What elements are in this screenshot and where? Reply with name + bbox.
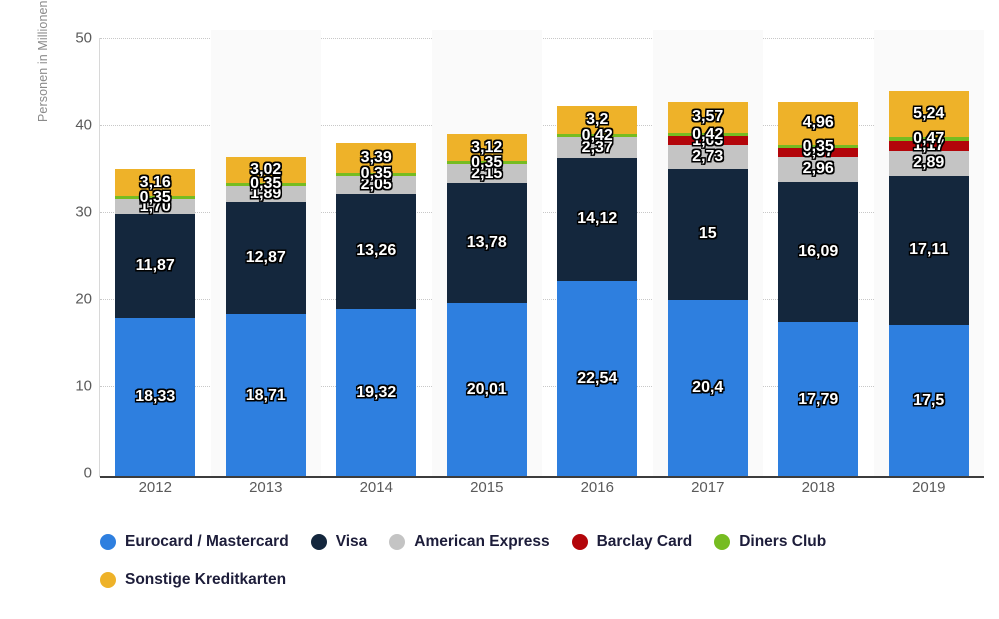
stacked-bar-chart: Personen in Millionen 01020304050 18,331… (0, 0, 999, 619)
bar-value-label: 15 (699, 226, 717, 242)
x-axis-labels: 20122013201420152016201720182019 (100, 479, 984, 509)
legend-item-barclay-card[interactable]: Barclay Card (572, 533, 693, 551)
bar-value-label: 3,16 (140, 175, 171, 191)
bar-segment-eurocard-mastercard-2013[interactable]: 18,71 (226, 314, 306, 477)
legend-color-swatch-icon (100, 534, 116, 550)
bar-value-label: 18,33 (135, 389, 175, 405)
bar-segment-eurocard-mastercard-2016[interactable]: 22,54 (557, 281, 637, 477)
x-axis-label-2013: 2013 (211, 479, 322, 509)
bar-segment-eurocard-mastercard-2012[interactable]: 18,33 (115, 318, 195, 477)
stacked-bar-2017[interactable]: 20,4152,731,030,423,57 (668, 102, 748, 477)
bar-segment-visa-2012[interactable]: 11,87 (115, 214, 195, 317)
y-axis-tick-label: 20 (54, 291, 92, 308)
bar-segment-diners-club-2012[interactable]: 0,35 (115, 196, 195, 199)
legend-color-swatch-icon (572, 534, 588, 550)
bar-slot-2014[interactable]: 19,3213,262,050,353,39 (321, 30, 432, 477)
bar-slot-2019[interactable]: 17,517,112,891,170,475,24 (874, 30, 985, 477)
legend-color-swatch-icon (311, 534, 327, 550)
legend-item-american-express[interactable]: American Express (389, 533, 549, 551)
x-axis-label-2018: 2018 (763, 479, 874, 509)
bar-segment-diners-club-2017[interactable]: 0,42 (668, 133, 748, 137)
bar-segment-american-express-2017[interactable]: 2,73 (668, 145, 748, 169)
bar-segment-visa-2019[interactable]: 17,11 (889, 176, 969, 325)
y-axis-tick-label: 30 (54, 204, 92, 221)
x-axis-label-2012: 2012 (100, 479, 211, 509)
bar-segment-american-express-2019[interactable]: 2,89 (889, 151, 969, 176)
bar-value-label: 19,32 (356, 385, 396, 401)
bar-slot-2016[interactable]: 22,5414,122,370,423,2 (542, 30, 653, 477)
stacked-bar-2018[interactable]: 17,7916,092,960,970,354,96 (778, 102, 858, 477)
stacked-bar-2012[interactable]: 18,3311,871,700,353,16 (115, 169, 195, 477)
x-axis-label-2014: 2014 (321, 479, 432, 509)
legend-item-diners-club[interactable]: Diners Club (714, 533, 826, 551)
legend-item-label: Sonstige Kreditkarten (125, 571, 286, 589)
bar-value-label: 0,35 (361, 166, 392, 182)
bar-segment-diners-club-2018[interactable]: 0,35 (778, 145, 858, 148)
bar-value-label: 3,12 (471, 140, 502, 156)
stacked-bar-2016[interactable]: 22,5414,122,370,423,2 (557, 106, 637, 477)
bar-value-label: 13,78 (467, 235, 507, 251)
legend-item-label: Barclay Card (597, 533, 693, 551)
bar-value-label: 0,35 (140, 190, 171, 206)
stacked-bar-2014[interactable]: 19,3213,262,050,353,39 (336, 143, 416, 477)
bar-value-label: 4,96 (803, 115, 834, 131)
bar-segment-eurocard-mastercard-2015[interactable]: 20,01 (447, 303, 527, 477)
bar-value-label: 20,4 (692, 380, 723, 396)
bar-value-label: 17,79 (798, 392, 838, 408)
bar-value-label: 2,89 (913, 155, 944, 171)
y-axis-tick-label: 10 (54, 378, 92, 395)
bar-group: 18,3311,871,700,353,1618,7112,871,890,35… (100, 30, 984, 477)
x-axis-label-2016: 2016 (542, 479, 653, 509)
bar-value-label: 0,47 (913, 131, 944, 147)
stacked-bar-2013[interactable]: 18,7112,871,890,353,02 (226, 157, 306, 477)
bar-value-label: 3,39 (361, 150, 392, 166)
legend-item-sonstige-kreditkarten[interactable]: Sonstige Kreditkarten (100, 571, 286, 589)
bar-segment-visa-2014[interactable]: 13,26 (336, 194, 416, 309)
bar-value-label: 5,24 (913, 106, 944, 122)
bar-value-label: 3,02 (250, 162, 281, 178)
bar-value-label: 18,71 (246, 388, 286, 404)
x-axis-label-2019: 2019 (874, 479, 985, 509)
legend-item-label: Diners Club (739, 533, 826, 551)
y-axis-tick-label: 40 (54, 117, 92, 134)
bar-segment-american-express-2018[interactable]: 2,96 (778, 157, 858, 183)
bar-segment-visa-2015[interactable]: 13,78 (447, 183, 527, 303)
bar-value-label: 3,2 (586, 112, 608, 128)
bar-value-label: 2,96 (803, 161, 834, 177)
bar-segment-diners-club-2016[interactable]: 0,42 (557, 134, 637, 138)
bar-segment-visa-2013[interactable]: 12,87 (226, 202, 306, 314)
bar-value-label: 0,35 (803, 139, 834, 155)
bar-segment-visa-2017[interactable]: 15 (668, 169, 748, 300)
bar-value-label: 17,11 (909, 242, 948, 258)
legend-color-swatch-icon (714, 534, 730, 550)
bar-slot-2013[interactable]: 18,7112,871,890,353,02 (211, 30, 322, 477)
bar-value-label: 2,73 (692, 149, 723, 165)
legend-color-swatch-icon (389, 534, 405, 550)
bar-segment-diners-club-2019[interactable]: 0,47 (889, 137, 969, 141)
bar-value-label: 12,87 (246, 250, 286, 266)
bar-value-label: 20,01 (467, 382, 507, 398)
bar-slot-2012[interactable]: 18,3311,871,700,353,16 (100, 30, 211, 477)
bar-segment-eurocard-mastercard-2017[interactable]: 20,4 (668, 300, 748, 477)
x-axis-line (100, 476, 984, 478)
bar-slot-2015[interactable]: 20,0113,782,150,353,12 (432, 30, 543, 477)
stacked-bar-2019[interactable]: 17,517,112,891,170,475,24 (889, 91, 969, 477)
bar-segment-diners-club-2014[interactable]: 0,35 (336, 173, 416, 176)
legend-item-label: American Express (414, 533, 549, 551)
bar-value-label: 16,09 (798, 244, 838, 260)
x-axis-label-2015: 2015 (432, 479, 543, 509)
stacked-bar-2015[interactable]: 20,0113,782,150,353,12 (447, 134, 527, 477)
bar-segment-eurocard-mastercard-2014[interactable]: 19,32 (336, 309, 416, 477)
legend-item-eurocard-mastercard[interactable]: Eurocard / Mastercard (100, 533, 289, 551)
y-axis-tick-label: 0 (54, 465, 92, 482)
bar-segment-eurocard-mastercard-2019[interactable]: 17,5 (889, 325, 969, 477)
legend-color-swatch-icon (100, 572, 116, 588)
bar-segment-diners-club-2013[interactable]: 0,35 (226, 183, 306, 186)
bar-value-label: 17,5 (913, 393, 944, 409)
bar-value-label: 13,26 (356, 243, 396, 259)
bar-segment-visa-2016[interactable]: 14,12 (557, 158, 637, 281)
bar-slot-2017[interactable]: 20,4152,731,030,423,57 (653, 30, 764, 477)
bar-value-label: 3,57 (692, 109, 723, 125)
x-axis-label-2017: 2017 (653, 479, 764, 509)
bar-value-label: 11,87 (136, 258, 175, 274)
legend-item-visa[interactable]: Visa (311, 533, 368, 551)
y-axis-tick-label: 50 (54, 30, 92, 47)
bar-segment-visa-2018[interactable]: 16,09 (778, 182, 858, 322)
legend-item-label: Eurocard / Mastercard (125, 533, 289, 551)
bar-value-label: 0,42 (582, 128, 613, 144)
legend-item-label: Visa (336, 533, 368, 551)
plot-area: Personen in Millionen 01020304050 18,331… (100, 30, 984, 477)
bar-value-label: 14,12 (577, 211, 617, 227)
bar-value-label: 22,54 (577, 371, 617, 387)
y-axis-title: Personen in Millionen (36, 0, 50, 122)
bar-segment-eurocard-mastercard-2018[interactable]: 17,79 (778, 322, 858, 477)
bar-value-label: 0,35 (471, 155, 502, 171)
bar-value-label: 0,35 (250, 176, 281, 192)
chart-legend: Eurocard / MastercardVisaAmerican Expres… (100, 533, 960, 589)
bar-slot-2018[interactable]: 17,7916,092,960,970,354,96 (763, 30, 874, 477)
bar-segment-diners-club-2015[interactable]: 0,35 (447, 161, 527, 164)
bar-value-label: 0,42 (692, 127, 723, 143)
